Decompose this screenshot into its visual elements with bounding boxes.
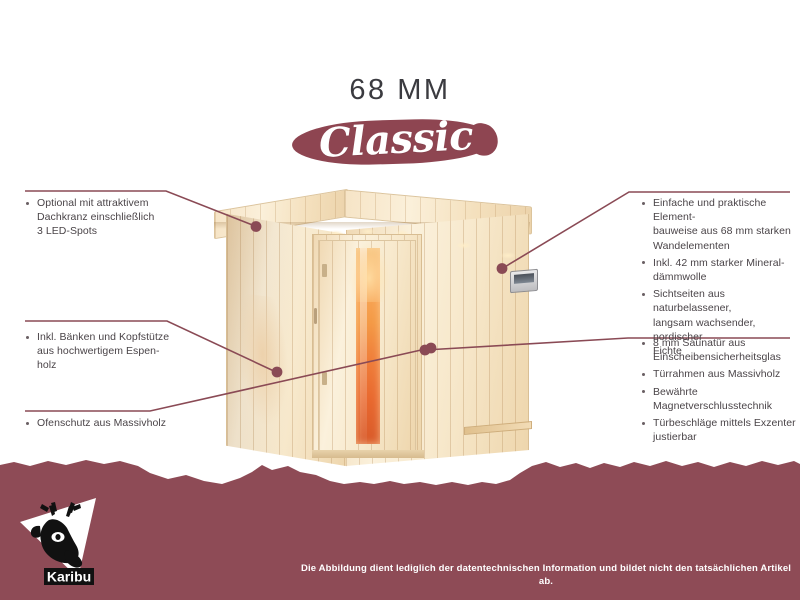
annotation-text: Bewährte Magnetverschlusstechnik <box>653 386 772 412</box>
led-spot-icon <box>456 242 472 249</box>
annotation-text: Türrahmen aus Massivholz <box>653 368 780 380</box>
annotation-text: 8 mm Saunatür aus <box>653 337 745 349</box>
annotation-text: Sichtseiten aus naturbelassener, <box>653 288 731 314</box>
list-item: Optional mit attraktivem Dachkranz einsc… <box>24 196 204 239</box>
list-item: Ofenschutz aus Massivholz <box>24 416 219 430</box>
annotation-list: Ofenschutz aus Massivholz <box>24 416 219 430</box>
led-spot-icon <box>500 252 516 259</box>
annotation-text: Ofenschutz aus Massivholz <box>37 417 166 429</box>
annotation-text: bauweise aus 68 mm starken <box>653 225 791 237</box>
product-info-sheet: 68 MM Classic <box>0 0 800 600</box>
sauna-cabin-image <box>208 186 538 476</box>
deer-head-icon: Karibu <box>18 492 110 588</box>
logo-wordmark: Karibu <box>47 569 91 585</box>
list-item: Bewährte Magnetverschlusstechnik <box>640 385 800 413</box>
wall-light-patch <box>235 293 292 430</box>
list-item: Einfache und praktische Element- bauweis… <box>640 196 800 253</box>
annotation-text: Optional mit attraktivem <box>37 197 149 209</box>
annotation-door: 8 mm Saunatür aus Einscheibensicherheits… <box>640 336 800 447</box>
karibu-logo: Karibu <box>18 492 110 588</box>
door-hinge-icon <box>322 372 327 385</box>
annotation-list: Inkl. Bänken und Kopfstütze aus hochwert… <box>24 330 209 373</box>
control-panel <box>510 269 538 293</box>
door-handle-icon <box>314 308 317 324</box>
annotation-list: Optional mit attraktivem Dachkranz einsc… <box>24 196 204 239</box>
annotation-text: dämmwolle <box>653 271 707 283</box>
annotation-text: justierbar <box>653 431 697 443</box>
annotation-benches: Inkl. Bänken und Kopfstütze aus hochwert… <box>24 330 209 376</box>
annotation-text: Türbeschläge mittels Exzenter <box>653 417 796 429</box>
list-item: Türbeschläge mittels Exzenter justierbar <box>640 416 800 444</box>
annotation-text: Einfache und praktische Element- <box>653 197 766 223</box>
annotation-roof-crown: Optional mit attraktivem Dachkranz einsc… <box>24 196 204 242</box>
annotation-text: Dachkranz einschließlich <box>37 211 154 223</box>
brand-model-name: Classic <box>295 111 497 168</box>
annotation-text: 3 LED-Spots <box>37 225 97 237</box>
door-hinge-icon <box>322 264 327 277</box>
footer-disclaimer: Die Abbildung dient lediglich der datent… <box>300 562 792 588</box>
annotation-text: aus hochwertigem Espen- <box>37 345 160 357</box>
list-item: Inkl. Bänken und Kopfstütze aus hochwert… <box>24 330 209 373</box>
list-item: 8 mm Saunatür aus Einscheibensicherheits… <box>640 336 800 364</box>
list-item: Türrahmen aus Massivholz <box>640 367 800 381</box>
annotation-text: Wandelementen <box>653 240 730 252</box>
annotation-list: 8 mm Saunatür aus Einscheibensicherheits… <box>640 336 800 444</box>
annotation-list: Einfache und praktische Element- bauweis… <box>640 196 800 358</box>
annotation-text: Inkl. Bänken und Kopfstütze <box>37 331 169 343</box>
brand-badge: Classic <box>292 116 507 174</box>
annotation-stove-guard: Ofenschutz aus Massivholz <box>24 416 219 433</box>
page-title-thickness: 68 MM <box>0 74 800 107</box>
annotation-text: Einscheibensicherheitsglas <box>653 351 781 363</box>
list-item: Inkl. 42 mm starker Mineral- dämmwolle <box>640 256 800 284</box>
annotation-text: Inkl. 42 mm starker Mineral- <box>653 257 785 269</box>
door-glass-pane <box>356 248 380 444</box>
annotation-text: holz <box>37 359 56 371</box>
